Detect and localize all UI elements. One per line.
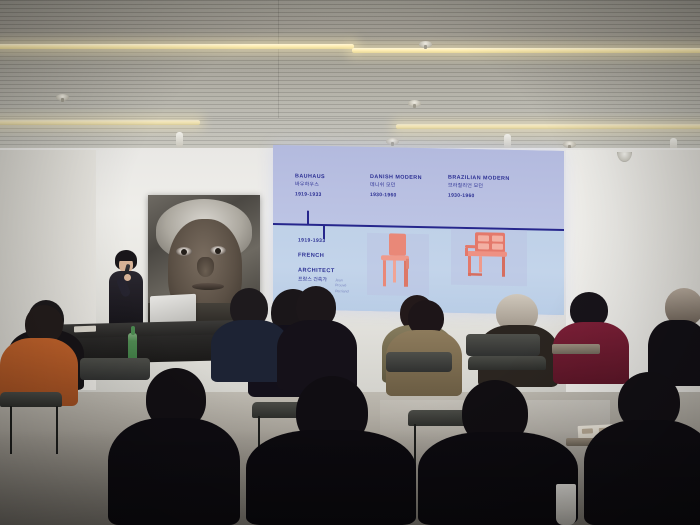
ceiling-slats (0, 0, 700, 152)
chair-back (386, 352, 452, 372)
era-label-en: BAUHAUS (295, 173, 325, 180)
light-strip-icon (396, 124, 700, 129)
light-strip-icon (0, 44, 354, 49)
sprinkler-icon (419, 41, 432, 48)
attendee-shoulders (584, 420, 700, 525)
chair-back (80, 358, 150, 380)
era-years: 1930-1960 (370, 192, 422, 199)
chair-leg (56, 406, 58, 454)
sprinkler-icon (408, 100, 421, 107)
chair-easy-armchair-icon (459, 229, 515, 280)
portrait-nose (197, 257, 214, 277)
sprinkler-icon (386, 138, 399, 145)
chair-back (466, 334, 540, 356)
era-label-ko: 브라질리언 모던 (448, 182, 510, 190)
french-years: 1919-1933 (298, 237, 335, 244)
paper-cup (556, 484, 576, 525)
french-label-en-line1: FRENCH (298, 252, 335, 260)
light-strip-icon (0, 120, 200, 125)
ceiling (0, 0, 700, 152)
lecture-room-photo: BAUHAUS 바우하우스 1919-1933 DANISH MODERN 데니… (0, 0, 700, 525)
era-brazilian-modern: BRAZILIAN MODERN 브라질리언 모던 1930-1960 (448, 175, 510, 201)
attendee-shoulders (246, 430, 416, 525)
presenter-bangs (116, 253, 136, 261)
attendee-shoulders (108, 418, 240, 525)
sprinkler-icon (56, 94, 69, 101)
era-label-en: BRAZILIAN MODERN (448, 175, 510, 183)
era-danish-modern: DANISH MODERN 데니쉬 모던 1930-1960 (370, 174, 422, 199)
slide-credit: Jean Prouvé Perriand (335, 278, 349, 294)
portrait-eye (176, 247, 192, 256)
chair-seat (468, 356, 546, 370)
ceiling-seam (278, 0, 279, 118)
portrait-mouth (192, 283, 224, 290)
era-label-ko: 데니쉬 모던 (370, 182, 422, 189)
era-years: 1930-1960 (448, 193, 510, 201)
french-architect-block: 1919-1933 FRENCH ARCHITECT 프랑스 건축가 (298, 237, 335, 283)
era-bauhaus: BAUHAUS 바우하우스 1919-1933 (295, 173, 325, 198)
spotlight-icon (504, 134, 511, 149)
chair-seat (0, 392, 62, 407)
era-label-en: DANISH MODERN (370, 174, 422, 182)
portrait-eye (210, 246, 226, 255)
era-label-ko: 바우하우스 (295, 181, 325, 188)
ceiling-seam (0, 118, 700, 119)
sprinkler-icon (563, 141, 576, 148)
attendee-shoulders (418, 432, 578, 525)
light-strip-icon (352, 48, 700, 53)
french-label-en-line2: ARCHITECT (298, 268, 335, 276)
paper-stack (74, 326, 96, 333)
chair-leg (10, 406, 12, 454)
french-label-ko: 프랑스 건축가 (298, 276, 335, 283)
era-years: 1919-1933 (295, 191, 325, 198)
presenter-hand (124, 274, 131, 281)
timeline-tick-up (307, 211, 309, 225)
desk-tablet (552, 344, 600, 354)
handout-image-block (582, 428, 593, 434)
credit-line: Perriand (335, 289, 349, 295)
chair-standard-icon (373, 231, 419, 290)
spotlight-icon (176, 132, 183, 147)
presenter (104, 250, 148, 326)
